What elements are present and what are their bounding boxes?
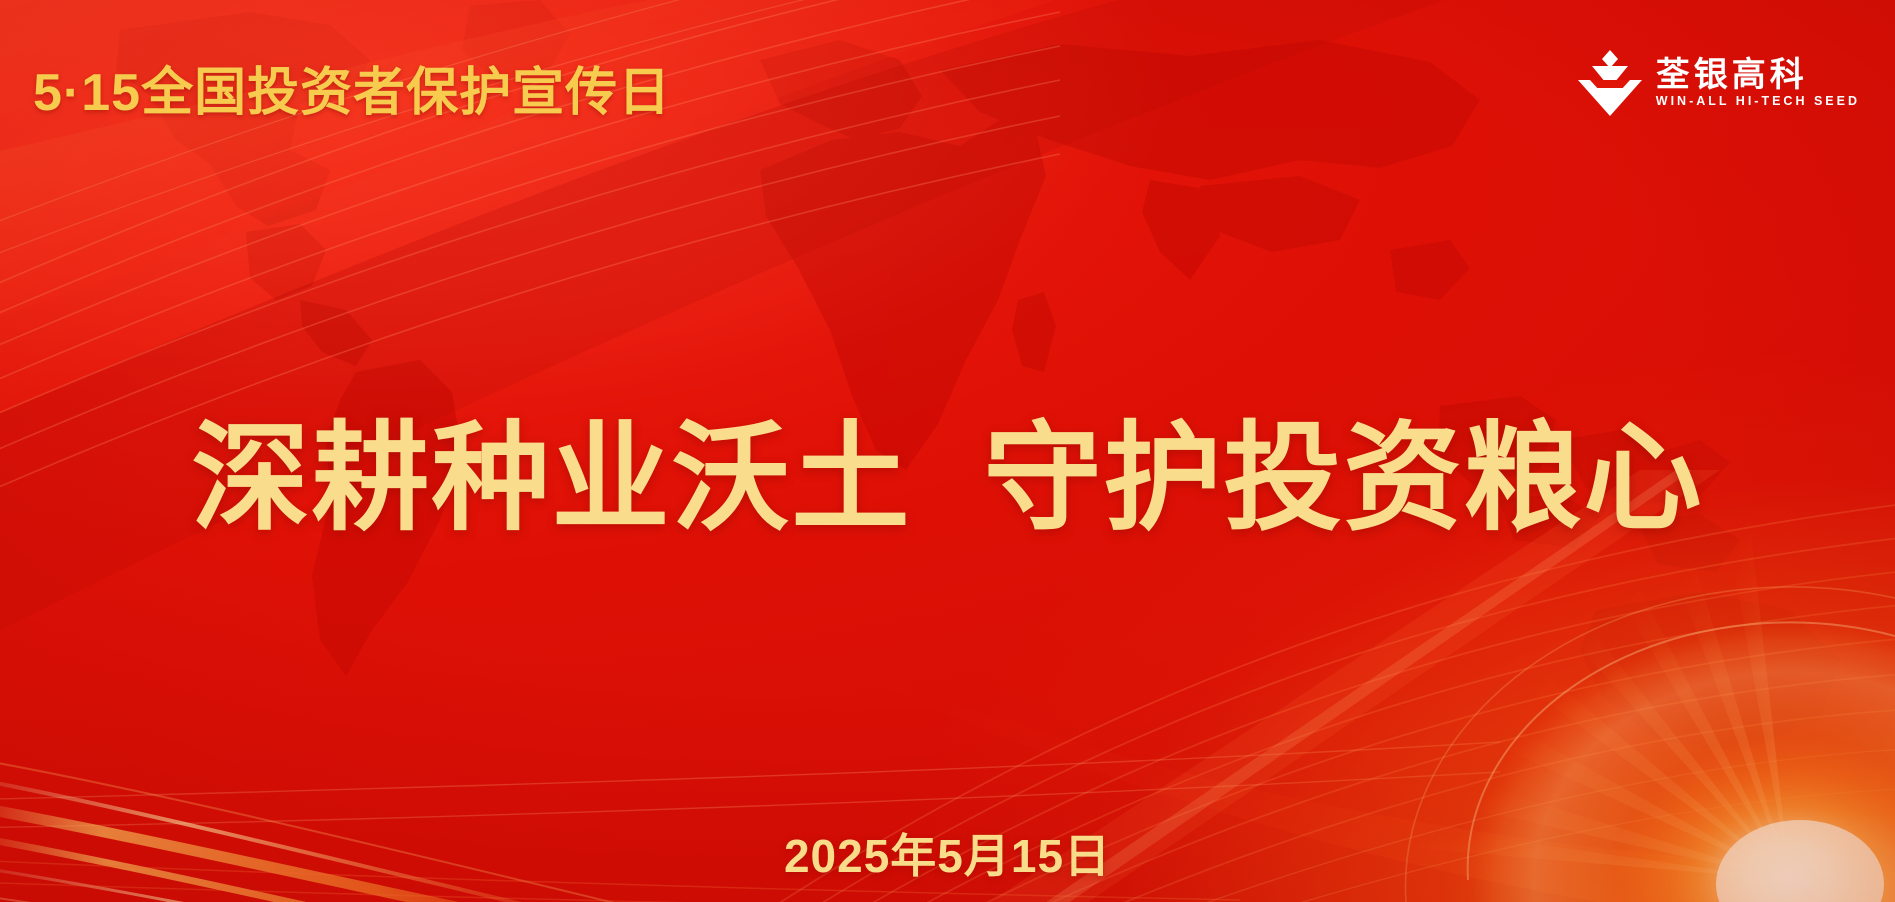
main-slogan: 深耕种业沃土守护投资粮心 [0, 415, 1895, 545]
company-logo[interactable]: 荃银高科 WIN-ALL HI-TECH SEED [1578, 50, 1860, 116]
event-date: 2025年5月15日 [0, 820, 1895, 886]
chevron-sprout-icon [1578, 50, 1642, 116]
logo-name-en: WIN-ALL HI-TECH SEED [1656, 95, 1860, 108]
banner-content: 5·15全国投资者保护宣传日 荃银高科 WIN-ALL HI-TECH SEED… [0, 0, 1895, 902]
campaign-header-label: 5·15全国投资者保护宣传日 [33, 50, 671, 125]
slogan-part-2: 守护投资粮心 [984, 415, 1704, 545]
logo-text-block: 荃银高科 WIN-ALL HI-TECH SEED [1656, 58, 1860, 108]
slogan-part-1: 深耕种业沃土 [191, 415, 911, 545]
investor-protection-banner: 5·15全国投资者保护宣传日 荃银高科 WIN-ALL HI-TECH SEED… [0, 0, 1895, 902]
logo-name-cn: 荃银高科 [1656, 58, 1860, 92]
